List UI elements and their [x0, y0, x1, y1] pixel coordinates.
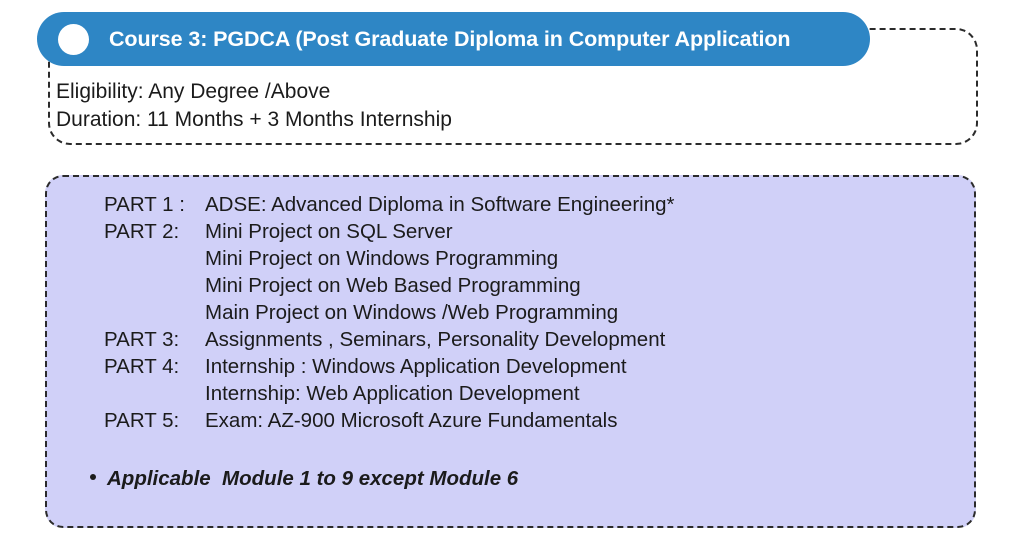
- part-label: PART 5:: [104, 407, 205, 434]
- part-text: Mini Project on SQL Server: [205, 218, 453, 245]
- list-item: Mini Project on Windows Programming: [104, 245, 675, 272]
- applicable-note: Applicable Module 1 to 9 except Module 6: [90, 465, 518, 492]
- part-text: Internship : Windows Application Develop…: [205, 353, 627, 380]
- circle-icon: [58, 24, 89, 55]
- part-label: PART 2:: [104, 218, 205, 245]
- part-text: Main Project on Windows /Web Programming: [205, 299, 618, 326]
- part-text: Mini Project on Windows Programming: [205, 245, 558, 272]
- part-text: Mini Project on Web Based Programming: [205, 272, 581, 299]
- list-item: PART 3: Assignments , Seminars, Personal…: [104, 326, 675, 353]
- list-item: PART 2: Mini Project on SQL Server: [104, 218, 675, 245]
- part-text: ADSE: Advanced Diploma in Software Engin…: [205, 191, 675, 218]
- list-item: Mini Project on Web Based Programming: [104, 272, 675, 299]
- course-meta: Eligibility: Any Degree /Above Duration:…: [56, 78, 756, 134]
- list-item: PART 4: Internship : Windows Application…: [104, 353, 675, 380]
- part-text: Assignments , Seminars, Personality Deve…: [205, 326, 665, 353]
- part-label: PART 4:: [104, 353, 205, 380]
- eligibility-line: Eligibility: Any Degree /Above: [56, 78, 756, 106]
- applicable-note-text: Applicable Module 1 to 9 except Module 6: [107, 465, 518, 492]
- course-detail-panel: PART 1 : ADSE: Advanced Diploma in Softw…: [45, 175, 976, 528]
- list-item: PART 5: Exam: AZ-900 Microsoft Azure Fun…: [104, 407, 675, 434]
- bullet-icon: [90, 474, 96, 480]
- parts-list: PART 1 : ADSE: Advanced Diploma in Softw…: [104, 191, 675, 434]
- course-title-pill: Course 3: PGDCA (Post Graduate Diploma i…: [37, 12, 870, 66]
- page-title: Course 3: PGDCA (Post Graduate Diploma i…: [109, 27, 790, 52]
- duration-line: Duration: 11 Months + 3 Months Internshi…: [56, 106, 756, 134]
- list-item: Main Project on Windows /Web Programming: [104, 299, 675, 326]
- part-text: Exam: AZ-900 Microsoft Azure Fundamental…: [205, 407, 617, 434]
- part-label: PART 3:: [104, 326, 205, 353]
- part-text: Internship: Web Application Development: [205, 380, 580, 407]
- list-item: Internship: Web Application Development: [104, 380, 675, 407]
- list-item: PART 1 : ADSE: Advanced Diploma in Softw…: [104, 191, 675, 218]
- part-label: PART 1 :: [104, 191, 205, 218]
